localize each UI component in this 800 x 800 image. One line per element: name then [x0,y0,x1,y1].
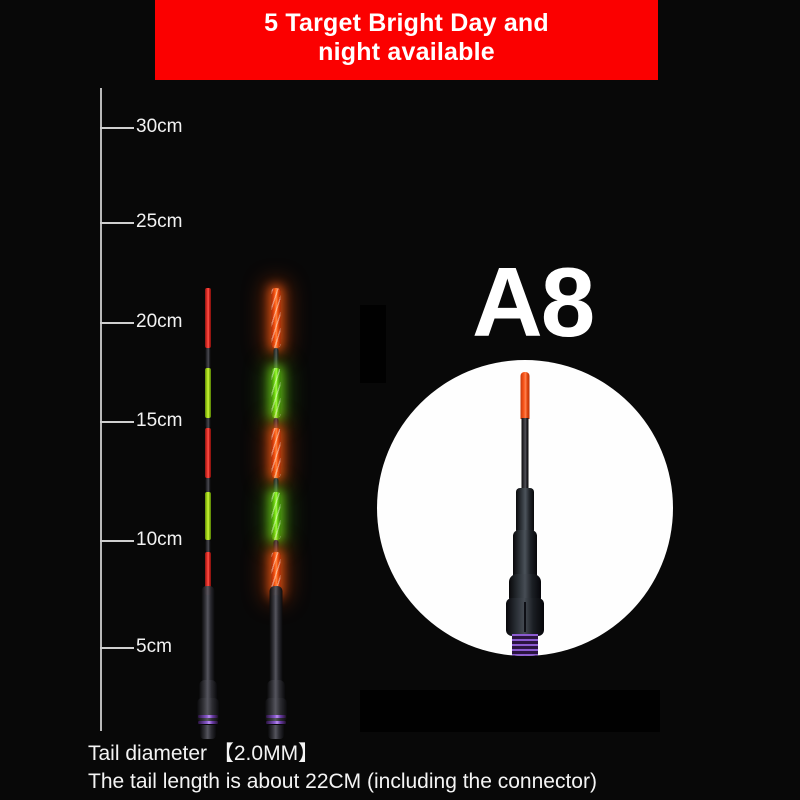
ruler-axis [100,88,102,731]
closeup-connector-hex [506,598,544,636]
caption-line-1: Tail diameter 【2.0MM】 [88,740,597,768]
ruler-label-25: 25cm [136,211,182,233]
float-illuminated-segment-dark-3 [274,478,279,492]
closeup-orange-tip [521,372,530,419]
float-illuminated-segment-orange-1 [272,288,281,348]
background-artifact-bar [360,690,660,732]
spec-caption: Tail diameter 【2.0MM】 The tail length is… [88,740,597,795]
headline-banner: 5 Target Bright Day and night available [155,0,658,80]
connector-closeup-circle [377,360,673,656]
float-illuminated-segment-dark-4 [274,540,279,552]
float-daylight-connector-tail [200,725,216,739]
background-artifact-rect [360,305,386,383]
ruler-tick-20 [100,322,134,324]
float-illuminated-segment-green-2 [272,492,281,540]
ruler-tick-5 [100,647,134,649]
float-daylight-segment-green-1 [205,368,211,418]
float-illuminated-connector-hex [265,698,287,722]
ruler-label-30: 30cm [136,116,182,138]
float-daylight-segment-red-1 [205,288,211,348]
float-illuminated-ring-1 [266,715,286,718]
model-label: A8 [472,253,593,351]
float-illuminated-ring-2 [266,721,286,724]
closeup-black-rod [522,418,529,490]
float-daylight-segment-red-2 [205,428,211,478]
float-daylight-segment-dark-4 [206,540,211,552]
ruler-tick-15 [100,421,134,423]
float-daylight-segment-dark-2 [206,418,211,428]
ruler-tick-30 [100,127,134,129]
float-illuminated-segment-green-1 [272,368,281,418]
float-daylight-ring-1 [198,715,218,718]
float-illuminated [258,280,294,740]
ruler-label-15: 15cm [136,410,182,432]
ruler-tick-10 [100,540,134,542]
float-daylight-connector-hex [197,698,219,722]
caption-line-2: The tail length is about 22CM (including… [88,768,597,796]
float-daylight [190,280,226,740]
ruler-label-20: 20cm [136,311,182,333]
ruler-label-5: 5cm [136,636,172,658]
float-illuminated-segment-dark-1 [274,348,279,368]
product-image: 5 Target Bright Day and night available … [0,0,800,800]
float-daylight-segment-green-2 [205,492,211,540]
float-daylight-ring-2 [198,721,218,724]
closeup-sleeve [516,488,534,534]
closeup-connector-body [513,530,537,580]
ruler-tick-25 [100,222,134,224]
float-illuminated-connector-tail [268,725,284,739]
closeup-purple-threads [512,634,538,656]
headline-line-2: night available [264,38,549,68]
float-daylight-segment-dark-1 [206,348,211,368]
float-illuminated-segment-dark-2 [274,418,279,428]
ruler-label-10: 10cm [136,529,182,551]
headline-line-1: 5 Target Bright Day and [264,9,549,39]
float-illuminated-segment-orange-2 [272,428,281,478]
float-daylight-segment-dark-3 [206,478,211,492]
